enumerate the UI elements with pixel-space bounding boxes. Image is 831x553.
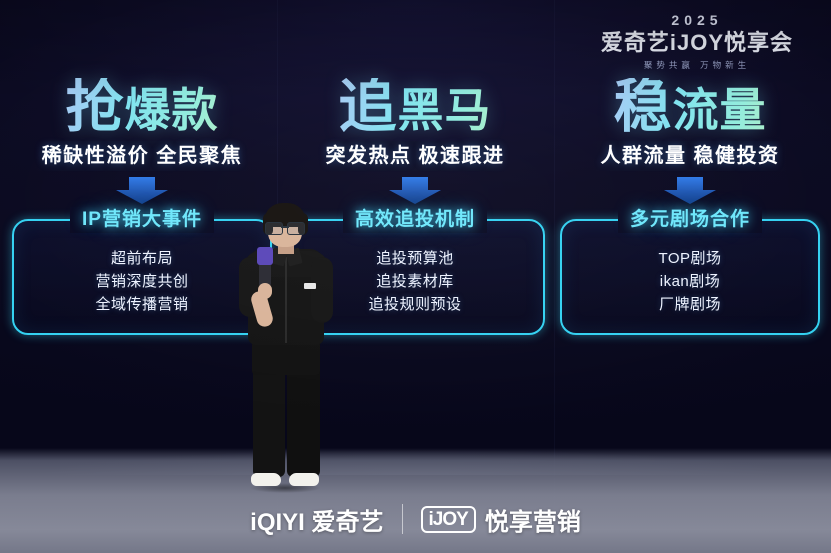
- card-3-title-wrap: 多元剧场合作: [552, 207, 828, 233]
- down-arrow-1: [4, 177, 280, 205]
- presentation-slide: 2025 爱奇艺iJOY悦享会 聚势共赢 万物新生 抢爆款 稀缺性溢价 全民聚焦: [0, 0, 831, 553]
- glasses-lens-left: [265, 222, 283, 235]
- speaker-hips: [252, 341, 320, 375]
- speaker-arm-right: [311, 257, 333, 323]
- ijoy-label: 悦享营销: [485, 502, 581, 537]
- ijoy-logo: iJOY 悦享营销: [421, 502, 581, 537]
- column-2-headline-accent: 追: [338, 74, 397, 139]
- speaker-shirt-logo: [304, 283, 316, 289]
- iqiyi-logo: iQIYI 爱奇艺: [250, 502, 383, 537]
- column-3-headline-accent: 稳: [613, 74, 672, 139]
- column-2-subline: 突发热点 极速跟进: [318, 141, 511, 171]
- speaker-leg-left: [253, 367, 285, 477]
- glasses-bridge: [281, 226, 289, 228]
- brand-divider: [402, 504, 403, 534]
- column-2-subline-wrap: 突发热点 极速跟进: [277, 141, 553, 171]
- column-1-headline: 抢爆款: [4, 78, 280, 139]
- brand-bar: iQIYI 爱奇艺 iJOY 悦享营销: [0, 499, 831, 539]
- speaker-shoe-right: [289, 473, 319, 486]
- arrow-down-icon: [114, 177, 170, 205]
- event-title: 爱奇艺iJOY悦享会: [579, 30, 815, 56]
- card-2-title: 高效追投机制: [343, 207, 487, 233]
- glasses-lens-right: [287, 222, 305, 235]
- card-3-item-1: TOP剧场: [552, 247, 828, 270]
- column-3-subline-wrap: 人群流量 稳健投资: [552, 141, 828, 171]
- column-1-headline-rest: 爆款: [125, 84, 219, 136]
- card-3[interactable]: 多元剧场合作 TOP剧场 ikan剧场 厂牌剧场: [552, 207, 828, 335]
- speaker-hand-left: [258, 283, 272, 299]
- card-3-title: 多元剧场合作: [618, 207, 762, 233]
- microphone-flag: [257, 247, 273, 265]
- card-3-item-3: 厂牌剧场: [552, 293, 828, 316]
- column-1-subline: 稀缺性溢价 全民聚焦: [35, 141, 250, 171]
- glasses-icon: [265, 222, 305, 233]
- column-3-headline: 稳流量: [552, 78, 828, 139]
- event-year: 2025: [579, 12, 815, 28]
- column-1-subline-wrap: 稀缺性溢价 全民聚焦: [4, 141, 280, 171]
- arrow-down-icon: [387, 177, 443, 205]
- column-3-subline: 人群流量 稳健投资: [593, 141, 786, 171]
- speaker-person: [232, 205, 338, 515]
- column-3-headline-rest: 流量: [673, 84, 767, 136]
- column-2-headline-rest: 黑马: [398, 84, 492, 136]
- card-3-item-2: ikan剧场: [552, 270, 828, 293]
- columns-container: 抢爆款 稀缺性溢价 全民聚焦 IP营销大事件 超前布局: [0, 78, 831, 368]
- speaker-shoe-left: [251, 473, 281, 486]
- event-tagline: 聚势共赢 万物新生: [579, 59, 815, 71]
- speaker-shirt-placket: [285, 257, 287, 343]
- column-2-headline: 追黑马: [277, 78, 553, 139]
- column-1-headline-accent: 抢: [65, 74, 124, 139]
- card-1-title: IP营销大事件: [70, 207, 214, 233]
- event-logo: 2025 爱奇艺iJOY悦享会 聚势共赢 万物新生: [579, 12, 815, 71]
- down-arrow-3: [552, 177, 828, 205]
- speaker-leg-right: [287, 367, 320, 477]
- card-3-items: TOP剧场 ikan剧场 厂牌剧场: [552, 247, 828, 316]
- arrow-down-icon: [662, 177, 718, 205]
- column-3: 稳流量 人群流量 稳健投资 多元剧场合作 TOP剧场: [552, 78, 828, 335]
- ijoy-mark: iJOY: [421, 506, 476, 533]
- down-arrow-2: [277, 177, 553, 205]
